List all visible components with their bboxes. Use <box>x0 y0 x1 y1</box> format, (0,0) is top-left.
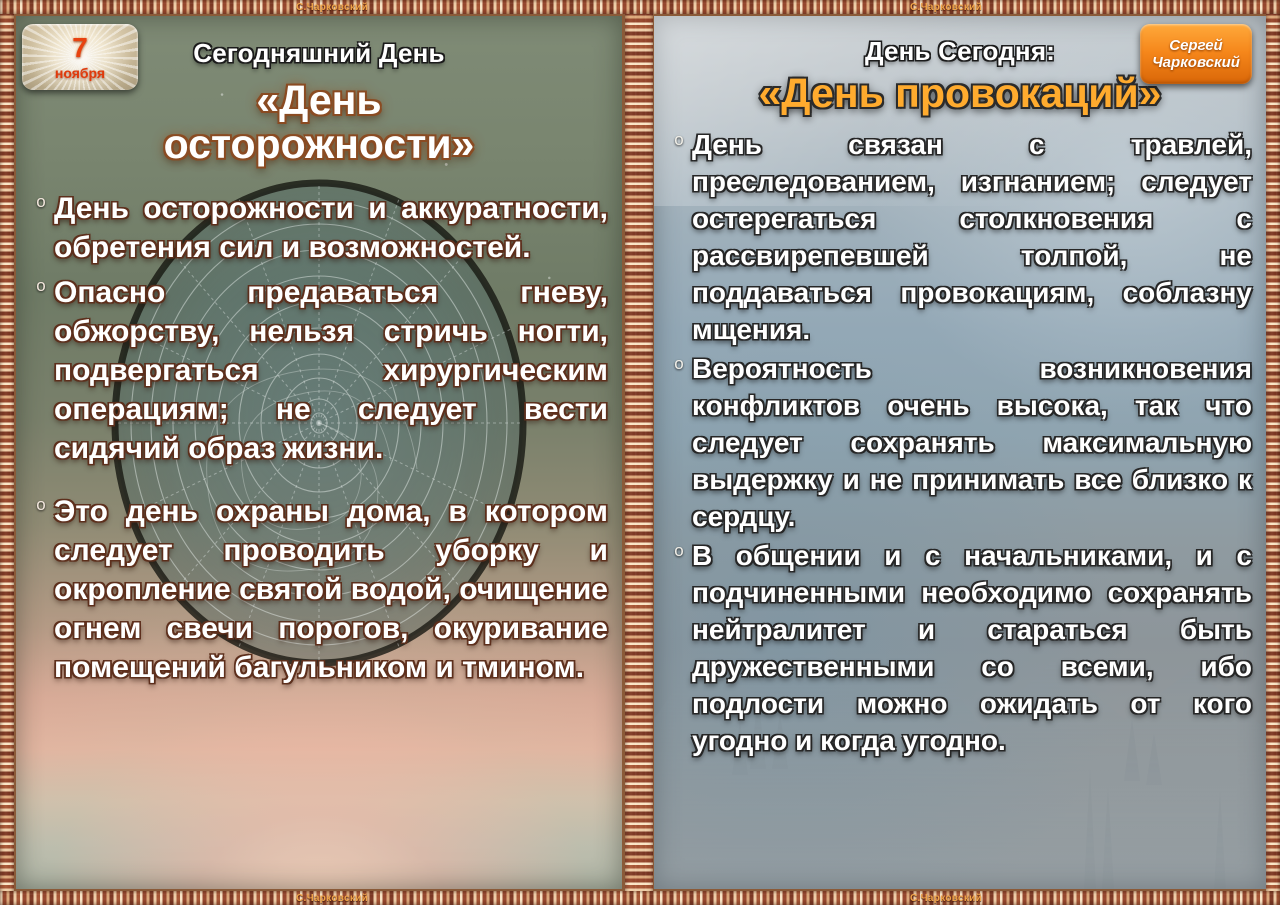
frame-top-border: С.Чарковский С.Чарковский <box>0 0 1280 14</box>
watermark-bottom-left: С.Чарковский <box>296 893 368 904</box>
poster-root: 7 ноября Сегодняшний День «День осторожн… <box>0 0 1280 905</box>
right-body-list: o День связан с травлей, преследованием,… <box>654 127 1266 759</box>
list-item: o День осторожности и аккуратности, обре… <box>28 189 608 267</box>
date-day: 7 <box>72 34 88 62</box>
right-card: Сергей Чарковский День Сегодня: «День пр… <box>654 16 1266 889</box>
watermark-top-right: С.Чарковский <box>910 2 982 13</box>
watermark-bottom-right: С.Чарковский <box>910 893 982 904</box>
bullet-icon: o <box>666 127 692 151</box>
date-month: ноября <box>55 66 105 80</box>
list-item-text: Вероятность возникновения конфликтов оче… <box>692 351 1252 536</box>
date-badge: 7 ноября <box>22 24 138 90</box>
bullet-icon: o <box>28 492 54 516</box>
author-badge-line-1: Сергей <box>1169 37 1222 54</box>
list-item: o Опасно предаваться гневу, обжорству, н… <box>28 273 608 468</box>
list-item: o В общении и с начальниками, и с подчин… <box>666 538 1252 760</box>
bullet-icon: o <box>666 351 692 375</box>
watermark-top-left: С.Чарковский <box>296 2 368 13</box>
left-title-line-2: осторожности» <box>16 122 622 166</box>
list-item: o Вероятность возникновения конфликтов о… <box>666 351 1252 536</box>
left-card: 7 ноября Сегодняшний День «День осторожн… <box>16 16 622 889</box>
author-badge: Сергей Чарковский <box>1140 24 1252 84</box>
frame-center-divider <box>625 0 653 905</box>
frame-right-border <box>1266 0 1280 905</box>
bullet-icon: o <box>28 189 54 213</box>
list-item-text: Это день охраны дома, в котором следует … <box>54 492 608 687</box>
list-item-text: В общении и с начальниками, и с подчинен… <box>692 538 1252 760</box>
author-badge-line-2: Чарковский <box>1152 54 1240 71</box>
list-item-text: День осторожности и аккуратности, обрете… <box>54 189 608 267</box>
list-item: o День связан с травлей, преследованием,… <box>666 127 1252 349</box>
bullet-icon: o <box>28 273 54 297</box>
frame-bottom-border: С.Чарковский С.Чарковский <box>0 891 1280 905</box>
list-item: o Это день охраны дома, в котором следуе… <box>28 492 608 687</box>
left-header-title: «День осторожности» <box>16 78 622 167</box>
bullet-icon: o <box>666 538 692 562</box>
list-item-text: Опасно предаваться гневу, обжорству, нел… <box>54 273 608 468</box>
left-body-list: o День осторожности и аккуратности, обре… <box>16 189 622 687</box>
frame-left-border <box>0 0 14 905</box>
list-item-text: День связан с травлей, преследованием, и… <box>692 127 1252 349</box>
